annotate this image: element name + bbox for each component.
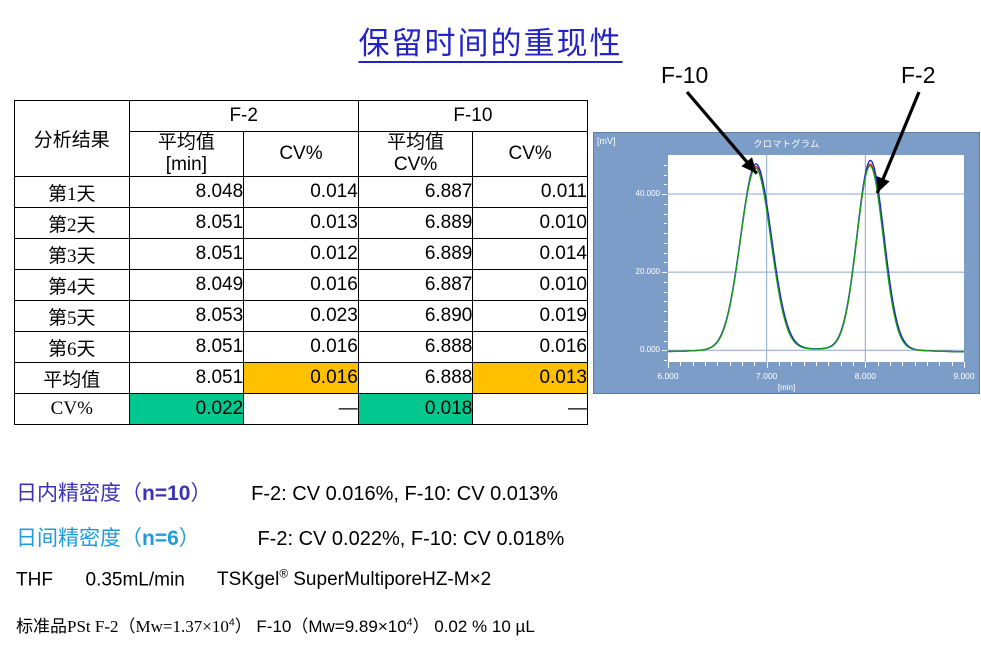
standard-suffix: ） 0.02 % 10 µL	[413, 617, 535, 636]
row-label: 第1天	[15, 177, 130, 208]
x-tick-mark	[717, 362, 718, 366]
cell-f10-mean: 6.888	[358, 332, 473, 363]
y-tick-label: 40.000	[612, 189, 660, 198]
y-tick-minor	[664, 165, 667, 166]
condition-column: TSKgel® SuperMultiporeHZ-M×2	[217, 569, 491, 590]
subheader-unit-text: CV%	[244, 143, 358, 165]
peak-label-f2: F-2	[901, 62, 936, 89]
x-tick-label: 7.000	[745, 371, 789, 381]
subheader-unit-text: CV%	[473, 143, 587, 165]
y-tick-minor	[664, 223, 667, 224]
cell-f10-cv: 0.011	[473, 177, 588, 208]
intraday-label: 日内精密度（n=10）	[16, 481, 211, 505]
x-tick-mark	[791, 362, 792, 366]
peak-label-f10: F-10	[661, 62, 708, 89]
y-tick-minor	[664, 292, 667, 293]
registered-trademark-icon: ®	[279, 568, 288, 581]
cell-f10-cv: 0.010	[473, 270, 588, 301]
trace-run-blue	[668, 160, 964, 351]
standard-middle: ） F-10（Mw=9.89×10	[235, 617, 407, 636]
y-tick-label: 0.000	[612, 345, 660, 354]
cell-f10-mean: 6.889	[358, 208, 473, 239]
x-tick-label: 8.000	[843, 371, 887, 381]
table-header-row-groups: 分析结果 F-2 F-10	[15, 101, 588, 132]
y-tick-mark	[662, 272, 667, 273]
row-label: 第2天	[15, 208, 130, 239]
table-group-header-f2: F-2	[129, 101, 358, 132]
table-row: 第4天8.0490.0166.8870.010	[15, 270, 588, 301]
y-tick-minor	[664, 175, 667, 176]
interday-label-close: ）	[179, 526, 200, 550]
chart-title: クロマトグラム	[594, 137, 979, 150]
trace-run-red	[668, 164, 964, 352]
x-tick-mark	[828, 362, 829, 366]
x-tick-mark	[816, 362, 817, 366]
cell-f2-cv: 0.016	[244, 270, 359, 301]
page-title: 保留时间的重现性	[0, 18, 981, 63]
x-tick-mark	[902, 362, 903, 366]
cell-f2-cv: 0.012	[244, 239, 359, 270]
condition-solvent: THF	[16, 569, 53, 590]
cell-f2-mean: 8.051	[129, 208, 244, 239]
y-tick-minor	[664, 341, 667, 342]
cell-f10-cv: 0.014	[473, 239, 588, 270]
chromatogram-panel: [mV] クロマトグラム 0.00020.00040.0006.0007.000…	[593, 132, 980, 394]
cell-f10-mean: 6.887	[358, 270, 473, 301]
cell-f2-cv: —	[244, 394, 359, 425]
row-label: 第3天	[15, 239, 130, 270]
cell-f10-mean: 6.890	[358, 301, 473, 332]
cell-f2-cv: 0.014	[244, 177, 359, 208]
cell-f10-cv: —	[473, 394, 588, 425]
subheader-unit-text: CV%	[359, 154, 473, 176]
table-subheader-f2-mean: 平均值 [min]	[129, 132, 244, 177]
x-tick-mark	[705, 362, 706, 366]
cell-f10-mean: 6.889	[358, 239, 473, 270]
cell-f10-cv: 0.013	[473, 363, 588, 394]
table-subheader-f10-cv: CV%	[473, 132, 588, 177]
y-tick-minor	[664, 331, 667, 332]
y-tick-minor	[664, 321, 667, 322]
cell-f2-cv: 0.016	[244, 363, 359, 394]
x-tick-label: 9.000	[942, 371, 981, 381]
row-label: 第4天	[15, 270, 130, 301]
x-tick-mark	[853, 362, 854, 366]
y-tick-minor	[664, 253, 667, 254]
subheader-jp-text: 平均值	[359, 132, 473, 154]
table-row: 第3天8.0510.0126.8890.014	[15, 239, 588, 270]
subheader-jp-text: 平均值	[130, 132, 244, 154]
cell-f2-cv: 0.016	[244, 332, 359, 363]
x-tick-mark	[952, 362, 953, 366]
chart-plot-area	[668, 155, 964, 362]
cell-f2-mean: 0.022	[129, 394, 244, 425]
y-tick-minor	[664, 311, 667, 312]
y-tick-minor	[664, 233, 667, 234]
row-label: 第5天	[15, 301, 130, 332]
cell-f10-cv: 0.010	[473, 208, 588, 239]
cell-f10-cv: 0.016	[473, 332, 588, 363]
x-tick-mark	[754, 362, 755, 366]
table-row: 平均值8.0510.0166.8880.013	[15, 363, 588, 394]
table-subheader-f2-cv: CV%	[244, 132, 359, 177]
intraday-label-close: ）	[190, 481, 211, 505]
condition-flow-rate: 0.35mL/min	[86, 569, 185, 590]
x-tick-mark	[804, 362, 805, 366]
y-tick-minor	[664, 301, 667, 302]
x-tick-mark	[865, 362, 866, 368]
intraday-label-text: 日内精密度（	[16, 481, 142, 505]
x-tick-mark	[927, 362, 928, 366]
results-table: 分析结果 F-2 F-10 平均值 [min] CV% 平均值 CV% CV% …	[14, 100, 588, 425]
cell-f2-mean: 8.053	[129, 301, 244, 332]
row-label: 第6天	[15, 332, 130, 363]
x-tick-mark	[878, 362, 879, 366]
footnote-intraday-precision: 日内精密度（n=10） F-2: CV 0.016%, F-10: CV 0.0…	[16, 477, 558, 507]
interday-label: 日间精密度（n=6）	[16, 526, 200, 550]
subheader-unit-text: [min]	[130, 154, 244, 176]
y-tick-minor	[664, 184, 667, 185]
x-tick-mark	[779, 362, 780, 366]
standard-prefix: 标准品PSt F-2（Mw=1.37×10	[16, 617, 229, 636]
table-row: 第5天8.0530.0236.8900.019	[15, 301, 588, 332]
column-name-suffix: SuperMultiporeHZ-M×2	[288, 569, 491, 590]
intraday-cv-values: F-2: CV 0.016%, F-10: CV 0.013%	[251, 483, 558, 505]
cell-f2-cv: 0.013	[244, 208, 359, 239]
row-label: 平均值	[15, 363, 130, 394]
x-tick-mark	[693, 362, 694, 366]
x-tick-mark	[742, 362, 743, 366]
interday-label-text: 日间精密度（	[16, 526, 142, 550]
x-tick-mark	[730, 362, 731, 366]
y-tick-minor	[664, 243, 667, 244]
y-tick-minor	[664, 360, 667, 361]
table-subheader-f10-mean: 平均值 CV%	[358, 132, 473, 177]
column-name-text: TSKgel	[217, 569, 279, 590]
y-tick-minor	[664, 262, 667, 263]
table-body: 第1天8.0480.0146.8870.011第2天8.0510.0136.88…	[15, 177, 588, 425]
y-tick-mark	[662, 350, 667, 351]
table-row: CV%0.022—0.018—	[15, 394, 588, 425]
table-row: 第2天8.0510.0136.8890.010	[15, 208, 588, 239]
chart-traces	[668, 155, 964, 362]
x-tick-mark	[939, 362, 940, 366]
cell-f2-mean: 8.049	[129, 270, 244, 301]
interday-n-value: n=6	[142, 527, 179, 550]
y-tick-minor	[664, 214, 667, 215]
x-tick-mark	[890, 362, 891, 366]
chart-xlabel: [min]	[594, 383, 979, 392]
y-tick-label: 20.000	[612, 267, 660, 276]
table-corner-label: 分析结果	[15, 101, 130, 177]
x-tick-mark	[915, 362, 916, 366]
cell-f10-mean: 0.018	[358, 394, 473, 425]
cell-f2-mean: 8.051	[129, 332, 244, 363]
cell-f10-mean: 6.888	[358, 363, 473, 394]
x-tick-mark	[767, 362, 768, 368]
cell-f2-mean: 8.051	[129, 239, 244, 270]
x-tick-mark	[668, 362, 669, 368]
cell-f2-cv: 0.023	[244, 301, 359, 332]
table-row: 第1天8.0480.0146.8870.011	[15, 177, 588, 208]
interday-cv-values: F-2: CV 0.022%, F-10: CV 0.018%	[257, 528, 564, 550]
x-tick-mark	[841, 362, 842, 366]
y-tick-minor	[664, 204, 667, 205]
cell-f2-mean: 8.048	[129, 177, 244, 208]
footnote-standards: 标准品PSt F-2（Mw=1.37×104） F-10（Mw=9.89×104…	[16, 612, 535, 637]
table-group-header-f10: F-10	[358, 101, 587, 132]
footnote-interday-precision: 日间精密度（n=6） F-2: CV 0.022%, F-10: CV 0.01…	[16, 522, 564, 552]
y-tick-mark	[662, 194, 667, 195]
cell-f10-mean: 6.887	[358, 177, 473, 208]
row-label: CV%	[15, 394, 130, 425]
x-tick-label: 6.000	[646, 371, 690, 381]
intraday-n-value: n=10	[142, 482, 190, 505]
y-tick-minor	[664, 282, 667, 283]
table-row: 第6天8.0510.0166.8880.016	[15, 332, 588, 363]
cell-f2-mean: 8.051	[129, 363, 244, 394]
x-tick-mark	[964, 362, 965, 368]
cell-f10-cv: 0.019	[473, 301, 588, 332]
x-tick-mark	[680, 362, 681, 366]
footnote-conditions: THF 0.35mL/min TSKgel® SuperMultiporeHZ-…	[16, 568, 491, 591]
